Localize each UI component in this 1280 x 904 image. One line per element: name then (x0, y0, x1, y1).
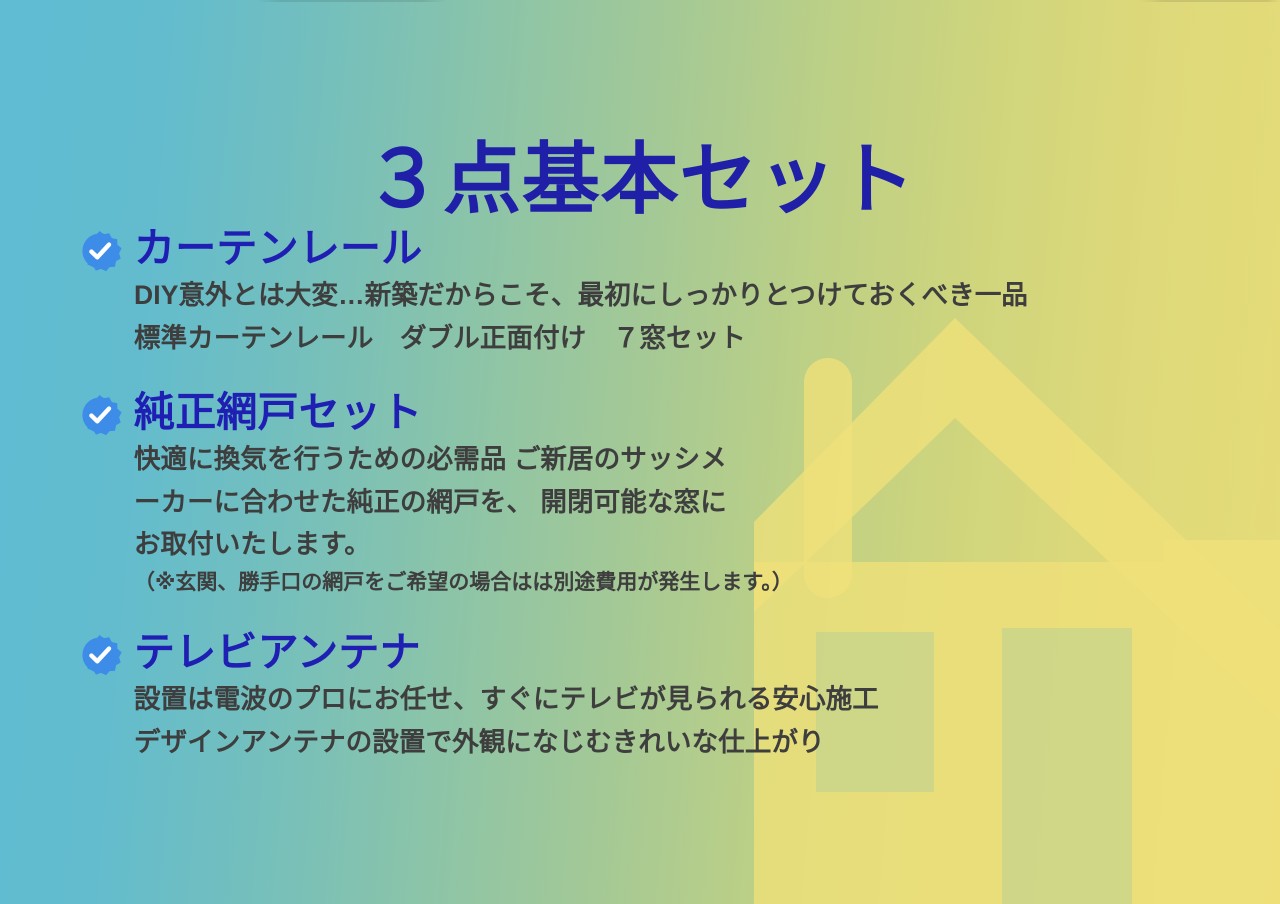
feature-item: カーテンレール DIY意外とは大変…新築だからこそ、最初にしっかりとつけておくべ… (78, 226, 1238, 359)
feature-description-line: デザインアンテナの設置で外観になじむきれいな仕上がり (134, 721, 1238, 764)
feature-description: DIY意外とは大変…新築だからこそ、最初にしっかりとつけておくべき一品 標準カー… (134, 274, 1238, 359)
check-badge-icon (78, 393, 122, 437)
feature-description: 設置は電波のプロにお任せ、すぐにテレビが見られる安心施工 デザインアンテナの設置… (134, 678, 1238, 763)
feature-item: テレビアンテナ 設置は電波のプロにお任せ、すぐにテレビが見られる安心施工 デザイ… (78, 630, 1238, 763)
feature-title: 純正網戸セット (134, 390, 422, 436)
poster-canvas: ３点基本セット カーテンレール DIY意外とは大変…新築だからこそ、最初にしっか… (0, 0, 1280, 904)
feature-description: 快適に換気を行うための必需品 ご新居のサッシメ ーカーに合わせた純正の網戸を、 … (134, 438, 1238, 566)
page-title: ３点基本セット (0, 140, 1280, 218)
poster-content: ３点基本セット カーテンレール DIY意外とは大変…新築だからこそ、最初にしっか… (0, 0, 1280, 904)
feature-description-line: お取付いたします。 (134, 523, 1238, 566)
check-badge-icon (78, 633, 122, 677)
feature-description-line: DIY意外とは大変…新築だからこそ、最初にしっかりとつけておくべき一品 (134, 274, 1238, 317)
feature-header: テレビアンテナ (78, 630, 1238, 676)
feature-note: （※玄関、勝手口の網戸をご希望の場合はは別途費用が発生します。） (134, 567, 1238, 599)
check-badge-icon (78, 229, 122, 273)
feature-header: 純正網戸セット (78, 390, 1238, 436)
feature-item: 純正網戸セット 快適に換気を行うための必需品 ご新居のサッシメ ーカーに合わせた… (78, 390, 1238, 598)
feature-description-line: 設置は電波のプロにお任せ、すぐにテレビが見られる安心施工 (134, 678, 1238, 721)
feature-description-line: 快適に換気を行うための必需品 ご新居のサッシメ (134, 438, 1238, 481)
feature-description-line: 標準カーテンレール ダブル正面付け ７窓セット (134, 317, 1238, 360)
feature-title: カーテンレール (134, 226, 422, 272)
feature-title: テレビアンテナ (134, 630, 421, 676)
feature-header: カーテンレール (78, 226, 1238, 272)
feature-description-line: ーカーに合わせた純正の網戸を、 開閉可能な窓に (134, 481, 1238, 524)
